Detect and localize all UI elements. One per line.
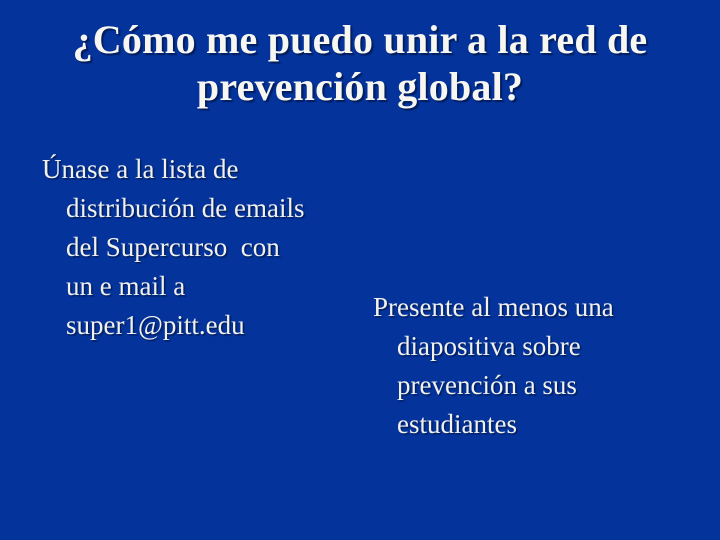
body-line: estudiantes	[373, 405, 693, 444]
body-line: Presente al menos una	[373, 288, 693, 327]
body-line: distribución de emails	[42, 189, 362, 228]
slide-title-line-1: ¿Cómo me puedo unir a la red de	[30, 16, 690, 63]
presentation-slide: ¿Cómo me puedo unir a la red de prevenci…	[0, 0, 720, 540]
slide-title-line-2: prevención global?	[30, 63, 690, 110]
body-line-email-address: super1@pitt.edu	[42, 306, 362, 345]
body-text-block-present-slide: Presente al menos una diapositiva sobre …	[373, 288, 693, 444]
body-line: diapositiva sobre	[373, 327, 693, 366]
body-text-block-mailing-list: Únase a la lista de distribución de emai…	[42, 150, 362, 345]
body-line: prevención a sus	[373, 366, 693, 405]
body-line: Únase a la lista de	[42, 150, 362, 189]
body-line: un e mail a	[42, 267, 362, 306]
slide-title: ¿Cómo me puedo unir a la red de prevenci…	[30, 16, 690, 110]
body-line: del Supercurso con	[42, 228, 362, 267]
